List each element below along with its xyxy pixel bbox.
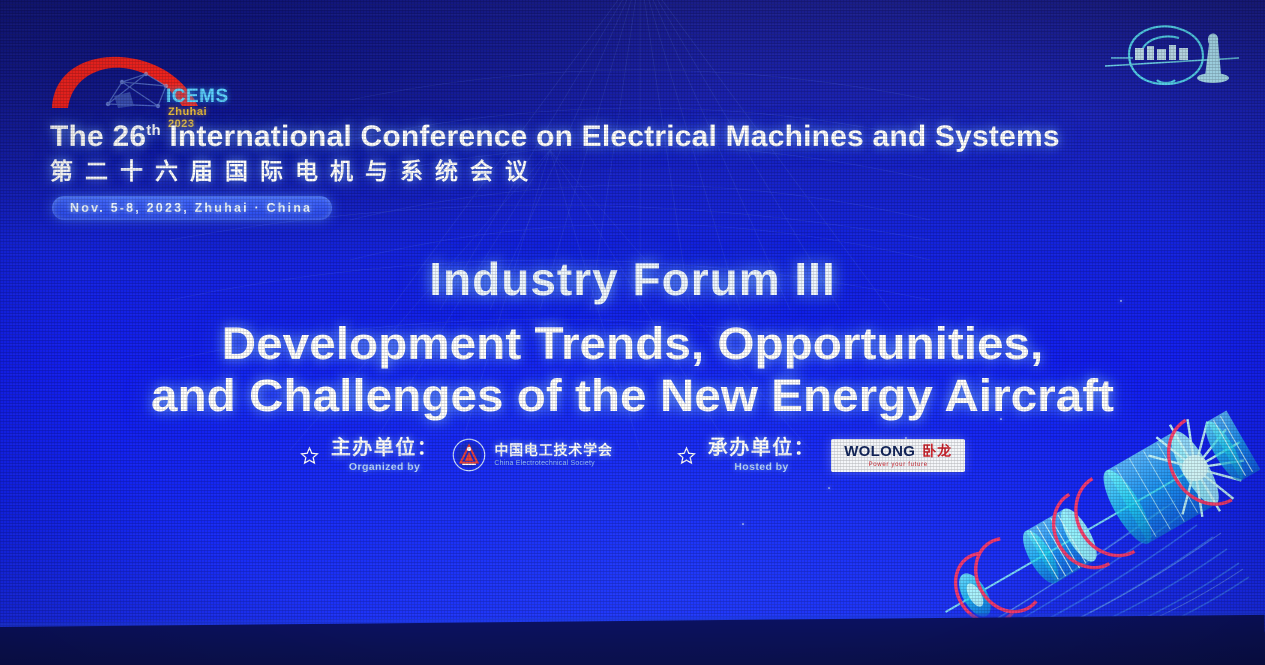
conference-slide-photo: ICEMS Zhuhai 2023 The 26th International… — [0, 0, 1265, 665]
title-ordinal: th — [146, 122, 161, 139]
host-label-en: Hosted by — [734, 462, 788, 473]
date-location-text: Nov. 5-8, 2023, Zhuhai · China — [70, 201, 312, 215]
wolong-name-cn: 卧龙 — [922, 444, 952, 458]
host-label-cn: 承办单位： — [708, 438, 816, 458]
organizer-group: 主办单位： Organized by 中国电工技术学会 China Electr… — [300, 438, 613, 473]
sparkle-dot — [828, 487, 830, 489]
subtitle-line-2: and Challenges of the New Energy Aircraf… — [0, 370, 1265, 422]
subtitle-line-1: Development Trends, Opportunities, — [0, 318, 1265, 370]
ces-name-cn: 中国电工技术学会 — [494, 443, 612, 457]
title-rest: International Conference on Electrical M… — [161, 120, 1060, 153]
sponsor-row: 主办单位： Organized by 中国电工技术学会 China Electr… — [0, 438, 1265, 473]
ces-logo-text: 中国电工技术学会 China Electrotechnical Society — [494, 443, 612, 467]
wolong-name-en: WOLONG — [844, 444, 915, 459]
ces-emblem-icon — [452, 438, 486, 472]
host-group: 承办单位： Hosted by WOLONG 卧龙 Power your fut… — [677, 438, 965, 473]
conference-title-chinese: 第二十六届国际电机与系统会议 — [50, 152, 540, 186]
ces-logo: 中国电工技术学会 China Electrotechnical Society — [452, 438, 612, 472]
star-icon — [677, 446, 696, 465]
organizer-label-en: Organized by — [349, 462, 420, 473]
wolong-logo: WOLONG 卧龙 Power your future — [831, 439, 965, 472]
forum-title: Industry Forum III — [0, 252, 1265, 306]
forum-subtitle: Development Trends, Opportunities, and C… — [0, 318, 1265, 422]
date-location-badge: Nov. 5-8, 2023, Zhuhai · China — [52, 196, 332, 220]
ces-name-en: China Electrotechnical Society — [494, 460, 612, 467]
icems-wordmark: ICEMS — [166, 86, 229, 108]
icems-logo: ICEMS Zhuhai 2023 — [48, 48, 228, 120]
zhuhai-city-emblem-icon — [1099, 14, 1249, 96]
wolong-logo-row: WOLONG 卧龙 — [844, 444, 952, 459]
organizer-label-cn: 主办单位： — [331, 438, 439, 458]
wolong-tagline: Power your future — [869, 462, 928, 468]
organizer-labels: 主办单位： Organized by — [331, 438, 439, 473]
conference-title-english: The 26th International Conference on Ele… — [50, 120, 1200, 154]
title-prefix: The 26 — [50, 120, 146, 153]
sparkle-dot — [742, 523, 744, 525]
host-labels: 承办单位： Hosted by — [708, 438, 816, 473]
star-icon — [300, 446, 319, 465]
